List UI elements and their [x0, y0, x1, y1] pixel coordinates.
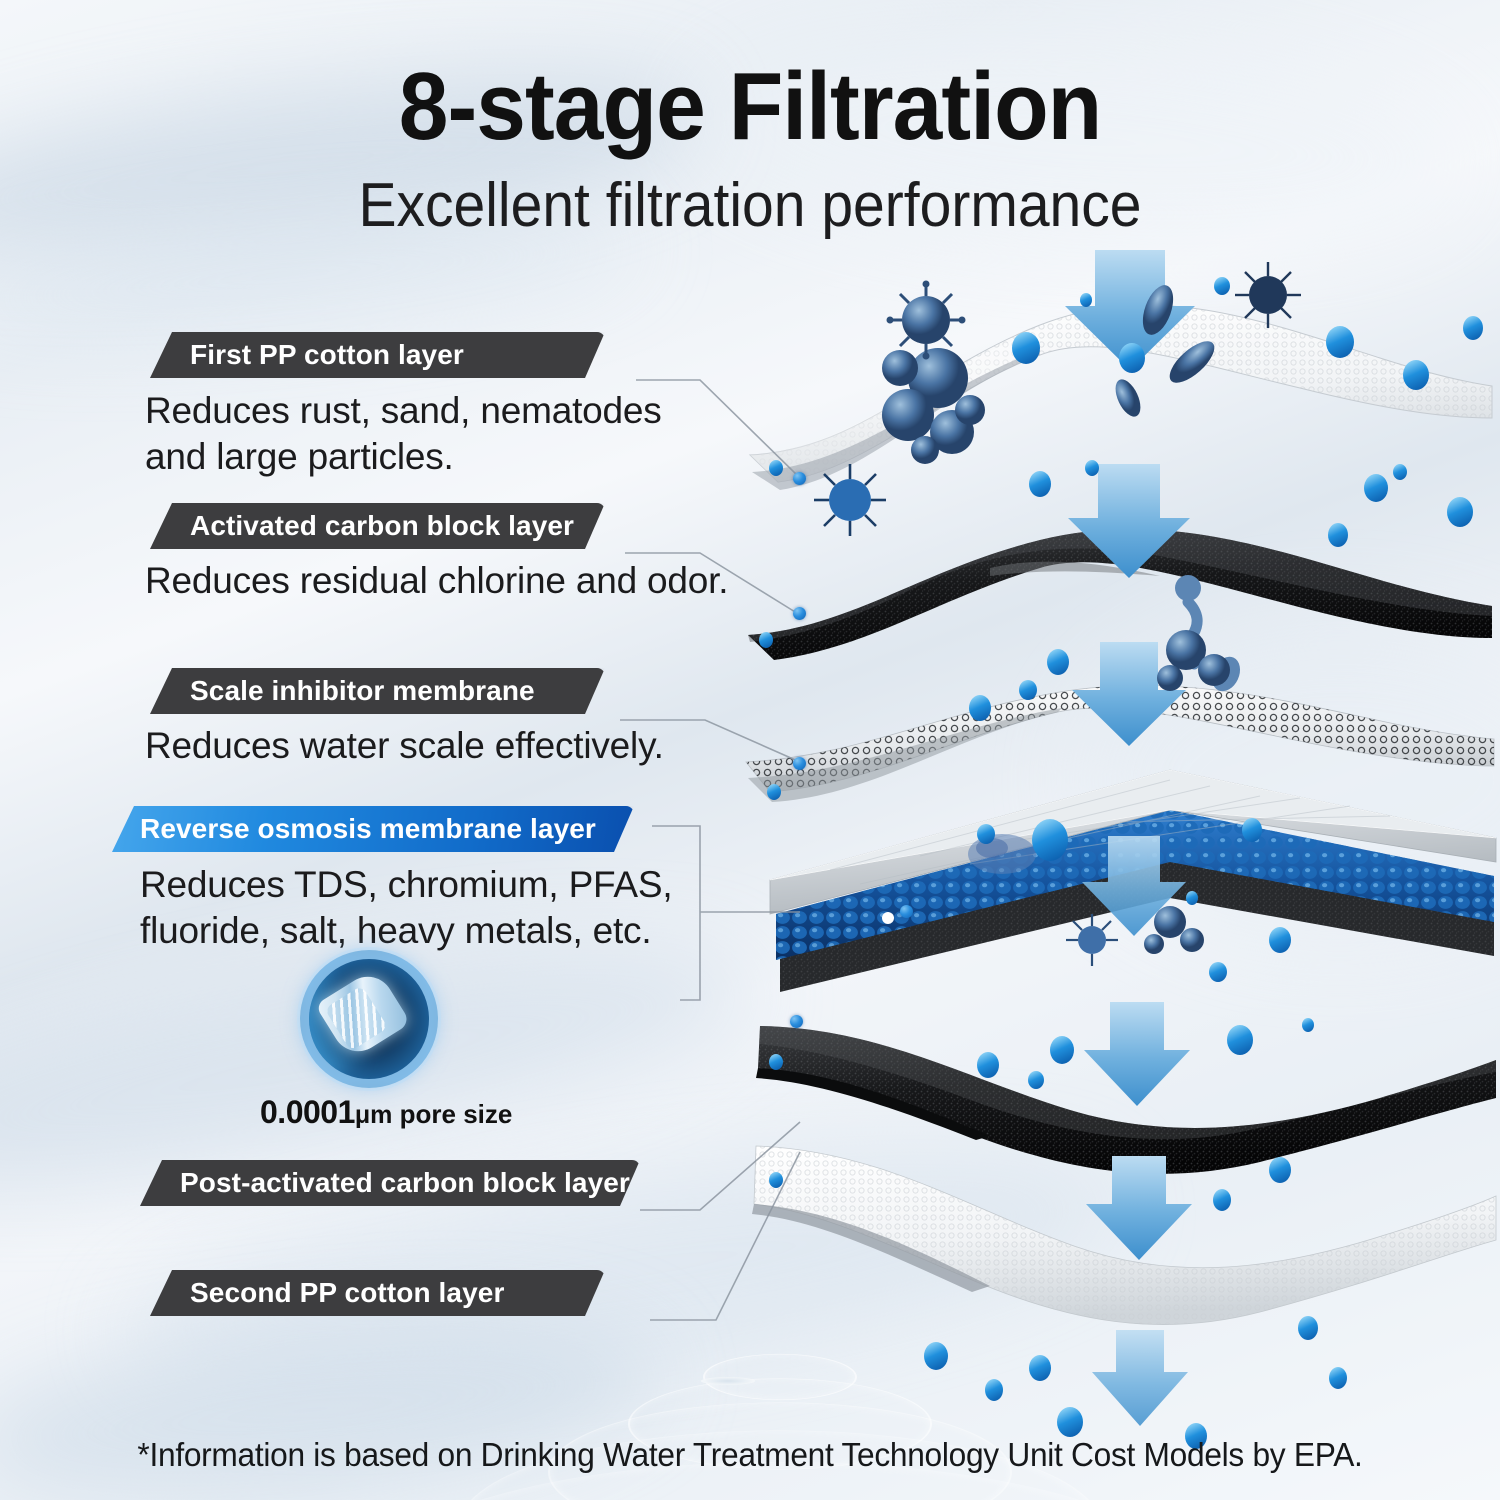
layer-desc-ro: Reduces TDS, chromium, PFAS, fluoride, s… [140, 862, 740, 954]
layer-badge-scale[interactable]: Scale inhibitor membrane [150, 668, 605, 714]
layer-badge-pp1[interactable]: First PP cotton layer [150, 332, 605, 378]
layer-badge-carbon2[interactable]: Post-activated carbon block layer [140, 1160, 640, 1206]
leader-endpoint-dot [900, 905, 913, 918]
leader-line-carbon2 [640, 1122, 800, 1210]
leader-endpoint-dot [793, 757, 806, 770]
layer-badge-label: Second PP cotton layer [190, 1277, 504, 1309]
leader-endpoint-dot [793, 607, 806, 620]
infographic-canvas: 8-stage Filtration Excellent filtration … [0, 0, 1500, 1500]
layer-desc-pp1: Reduces rust, sand, nematodes and large … [145, 388, 675, 480]
layer-desc-carbon1: Reduces residual chlorine and odor. [145, 558, 745, 604]
footnote: *Information is based on Drinking Water … [30, 1436, 1470, 1474]
leader-line-pp2 [650, 1152, 800, 1320]
ro-membrane-roll-icon [300, 950, 438, 1088]
layer-badge-label: Activated carbon block layer [190, 510, 574, 542]
leader-endpoint-dot [793, 472, 806, 485]
layer-badge-label: Reverse osmosis membrane layer [140, 813, 596, 845]
layer-badge-pp2[interactable]: Second PP cotton layer [150, 1270, 605, 1316]
pore-size-unit: μm [355, 1101, 393, 1129]
pore-size-value: 0.0001 [260, 1094, 355, 1130]
layer-badge-ro[interactable]: Reverse osmosis membrane layer [112, 806, 634, 852]
layer-badge-label: Post-activated carbon block layer [180, 1167, 630, 1199]
pore-size-caption: 0.0001μm pore size [260, 1094, 500, 1131]
layer-badge-label: Scale inhibitor membrane [190, 675, 535, 707]
leader-endpoint-dot [790, 1015, 803, 1028]
pore-size-text: pore size [392, 1099, 512, 1129]
layer-desc-scale: Reduces water scale effectively. [145, 723, 745, 769]
layer-badge-label: First PP cotton layer [190, 339, 464, 371]
pore-size-badge: 0.0001μm pore size [300, 950, 438, 1088]
layer-badge-carbon1[interactable]: Activated carbon block layer [150, 503, 605, 549]
